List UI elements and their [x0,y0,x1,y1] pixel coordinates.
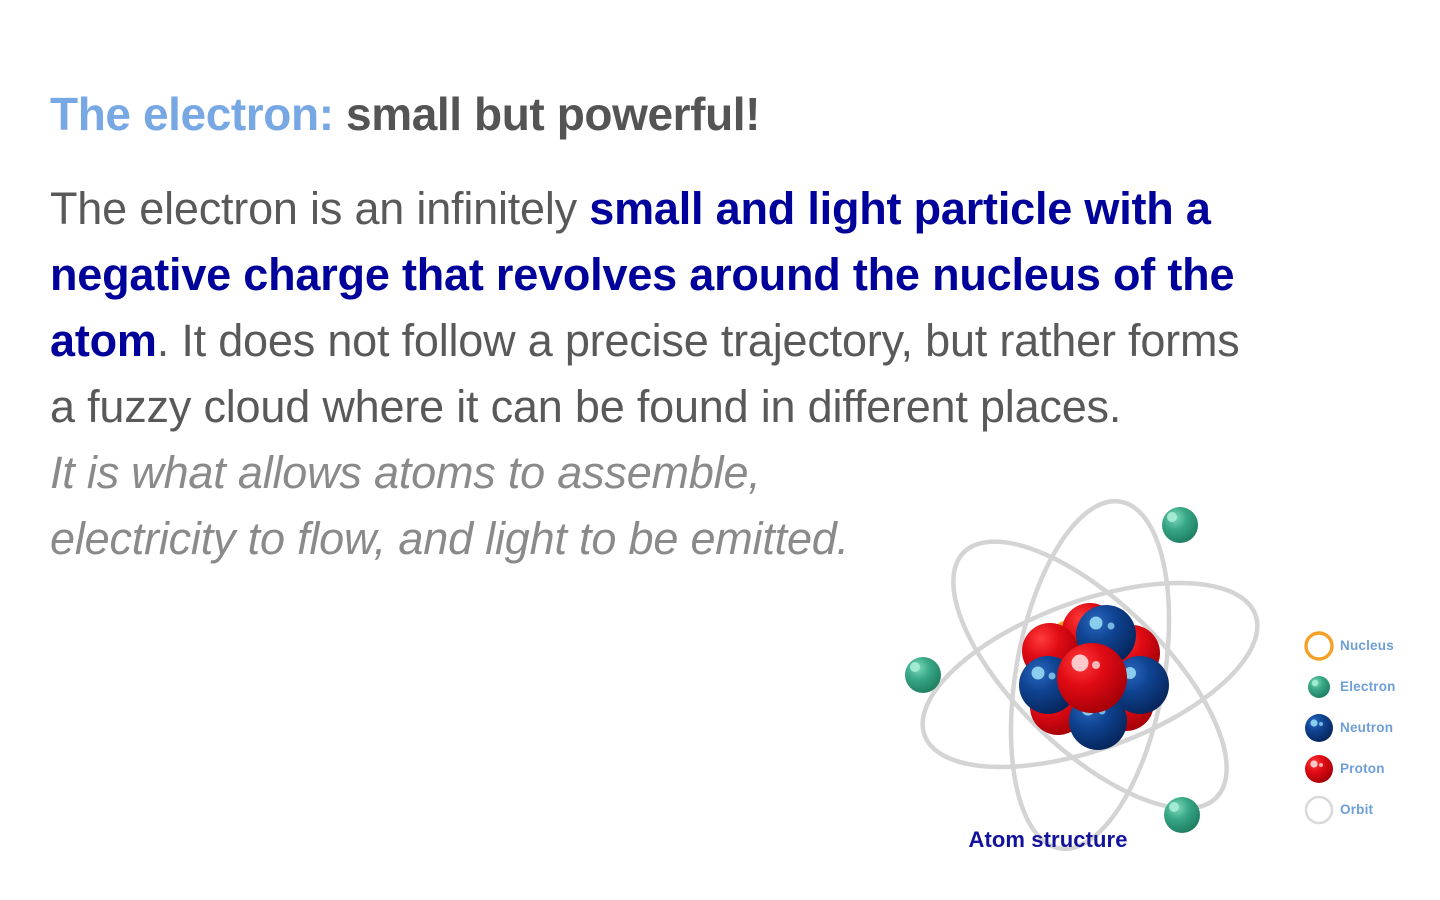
legend-label-nucleus: Nucleus [1340,638,1394,653]
body-lead-text: The electron is an infinitely [50,183,589,234]
proton-sphere-icon [1298,753,1340,785]
atom-diagram: Atom structure [878,495,1303,865]
nucleus-ring-icon [1298,630,1340,662]
legend-item-neutron: Neutron [1298,707,1438,748]
proton-particle [1057,643,1127,713]
orbit-ring-icon [1298,794,1340,826]
legend-label-proton: Proton [1340,761,1385,776]
neutron-sphere-icon [1298,712,1340,744]
electron-particle [1162,507,1198,543]
atom-structure-svg [878,495,1303,865]
page-title: The electron: small but powerful! [50,89,1230,140]
legend-label-orbit: Orbit [1340,802,1373,817]
legend-label-neutron: Neutron [1340,720,1393,735]
legend-label-electron: Electron [1340,679,1396,694]
title-accent-text: The electron: [50,88,334,140]
legend-item-proton: Proton [1298,748,1438,789]
legend-item-orbit: Orbit [1298,789,1438,830]
electron-particle [905,657,941,693]
title-rest-text: small but powerful! [334,88,760,140]
legend-item-nucleus: Nucleus [1298,625,1438,666]
atom-caption: Atom structure [878,827,1218,853]
legend-item-electron: Electron [1298,666,1438,707]
electron-sphere-icon [1298,671,1340,703]
body-mid-text: . It does not follow a precise trajector… [50,315,1240,432]
legend: Nucleus Electron Neutron [1298,625,1438,830]
body-italic-text: It is what allows atoms to assemble, ele… [50,440,930,572]
slide-canvas: The electron: small but powerful! The el… [0,0,1440,900]
